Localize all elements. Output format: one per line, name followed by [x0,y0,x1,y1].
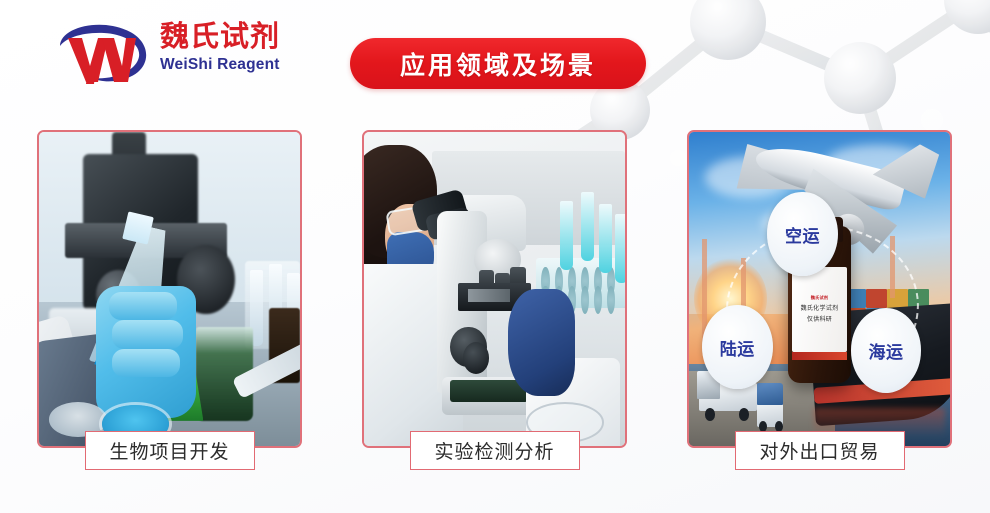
application-card-export-trade[interactable]: 魏氏试剂 魏氏化学试剂 仅供科研 空运 陆运 海运 对外出口贸易 [687,130,952,448]
bottle-line1-text: 魏氏化学试剂 [801,303,839,312]
card-label-text: 对外出口贸易 [759,437,879,464]
brand-name-en: WeiShi Reagent [160,55,300,75]
shipping-bubble-sea-text: 海运 [869,338,904,363]
application-card-biological[interactable]: 生物项目开发 [37,130,302,448]
brand-logo[interactable]: 魏氏试剂 WeiShi Reagent [52,18,292,94]
card-label-lab-analysis: 实验检测分析 [410,431,580,470]
brand-logo-text: 魏氏试剂 WeiShi Reagent [160,20,300,75]
shipping-bubble-land: 陆运 [702,305,772,390]
card-label-export-trade: 对外出口贸易 [735,431,905,470]
brand-name-cn: 魏氏试剂 [160,20,300,54]
weishi-logo-mark-icon [52,22,156,88]
product-bottle-label: 魏氏试剂 魏氏化学试剂 仅供科研 [792,267,847,352]
card-photo-biological [39,132,300,446]
card-photo-export-trade: 魏氏试剂 魏氏化学试剂 仅供科研 空运 陆运 海运 [689,132,950,446]
page-header: 魏氏试剂 WeiShi Reagent 应用领域及场景 [0,0,990,118]
bottle-line2-text: 仅供科研 [807,314,832,323]
page-root: 魏氏试剂 WeiShi Reagent 应用领域及场景 [0,0,990,513]
card-label-biological: 生物项目开发 [85,431,255,470]
card-label-text: 实验检测分析 [434,437,554,464]
shipping-bubble-land-text: 陆运 [720,335,755,360]
section-title-banner: 应用领域及场景 [350,38,646,89]
card-photo-lab-analysis [364,132,625,446]
shipping-bubble-sea: 海运 [851,308,921,393]
shipping-bubble-air-text: 空运 [785,222,820,247]
application-card-lab-analysis[interactable]: 实验检测分析 [362,130,627,448]
card-label-text: 生物项目开发 [109,437,229,464]
bottle-brand-text: 魏氏试剂 [811,295,829,301]
page-title: 应用领域及场景 [400,46,596,82]
shipping-bubble-air: 空运 [767,192,837,277]
